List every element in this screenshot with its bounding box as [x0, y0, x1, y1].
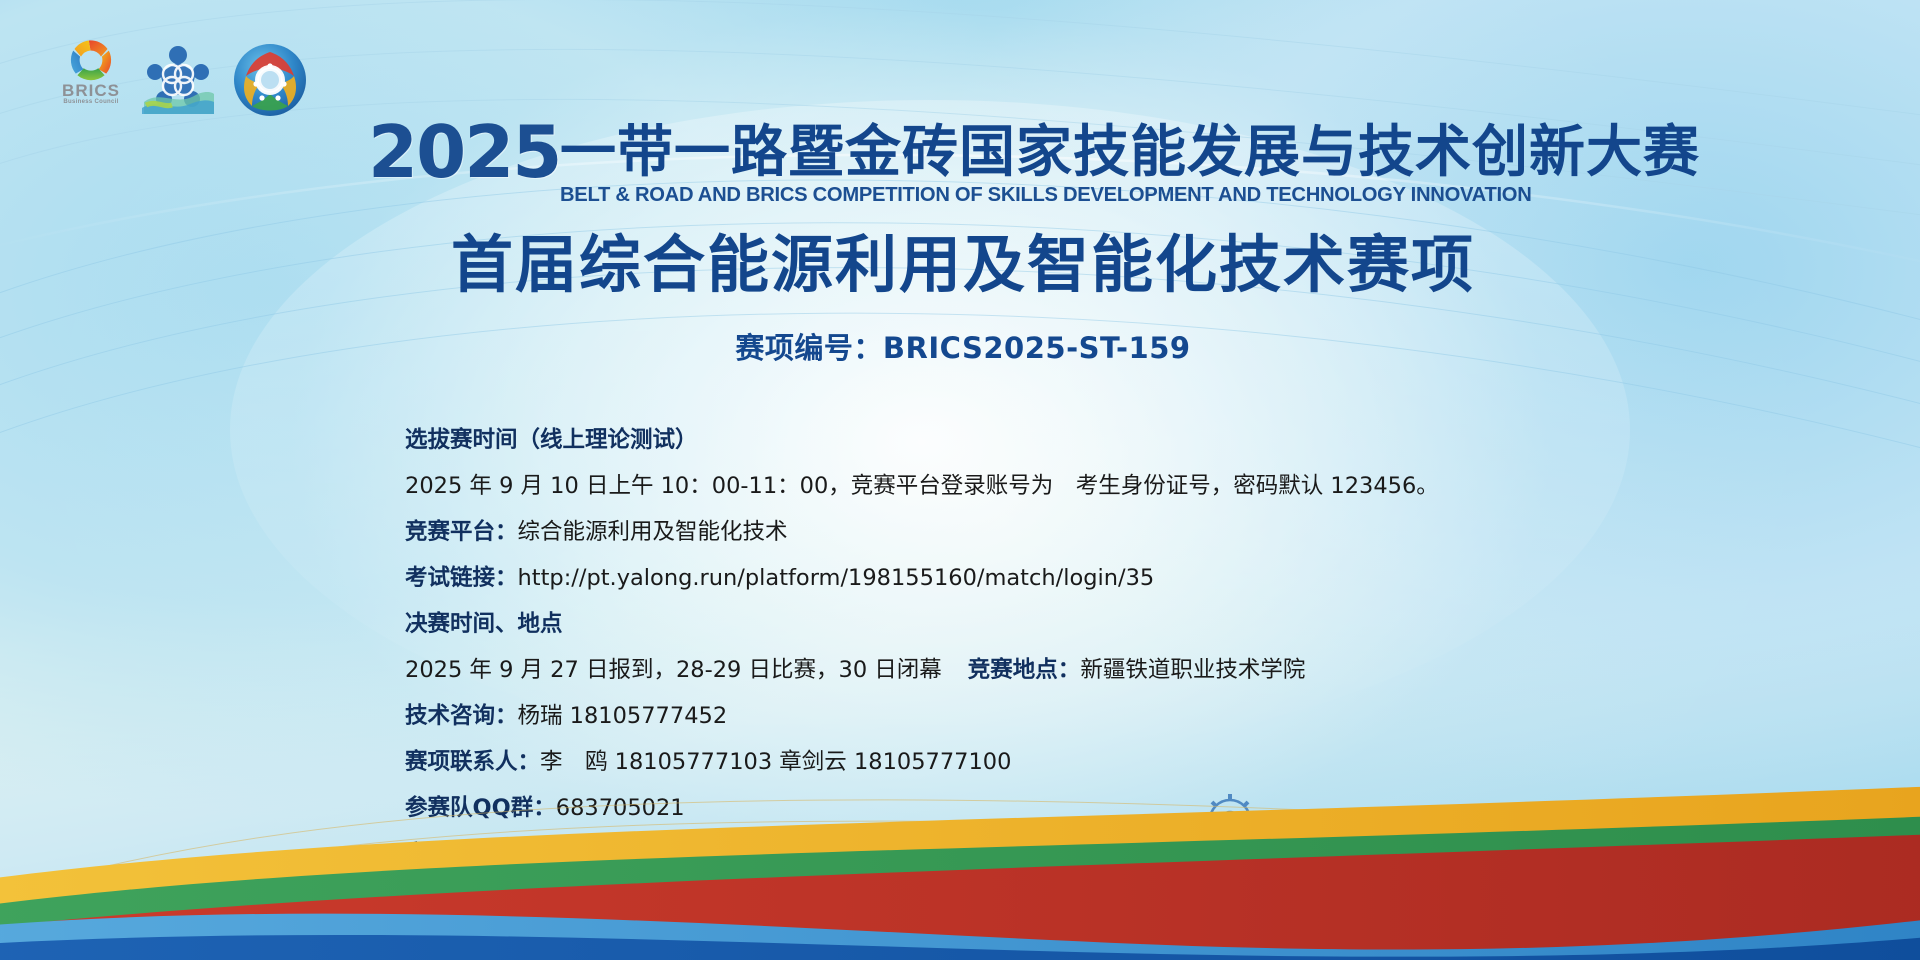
event-title-main: 首届综合能源利用及智能化技术赛项 — [368, 230, 1558, 300]
logo-group: BRICS Business Council — [52, 38, 322, 130]
brics-skills-emblem — [142, 42, 214, 114]
event-code-value: BRICS2025-ST-159 — [883, 331, 1191, 365]
event-code-label: 赛项编号： — [735, 331, 883, 365]
poster-canvas: BRICS Business Council — [0, 0, 1920, 960]
brics-sub-wordmark: Business Council — [60, 99, 122, 105]
selection-detail-line: 2025 年 9 月 10 日上午 10：00-11：00，竞赛平台登录账号为 … — [405, 464, 1555, 510]
venue-label: 竞赛地点： — [968, 657, 1081, 683]
venue-value: 新疆铁道职业技术学院 — [1080, 657, 1305, 683]
exam-link-line: 考试链接：http://pt.yalong.run/platform/19815… — [405, 556, 1555, 602]
brics-star-icon — [60, 38, 122, 82]
platform-value: 综合能源利用及智能化技术 — [518, 519, 788, 545]
platform-label: 竞赛平台： — [405, 519, 518, 545]
tech-support-value: 杨瑞 18105777452 — [518, 703, 728, 729]
selection-heading: 选拔赛时间（线上理论测试） — [405, 427, 698, 453]
year-2025: 2025 — [368, 116, 560, 188]
selection-detail: 2025 年 9 月 10 日上午 10：00-11：00，竞赛平台登录账号为 … — [405, 473, 1439, 499]
competition-title-cn: 一带一路暨金砖国家技能发展与技术创新大赛 — [560, 124, 1700, 182]
exam-link-value[interactable]: http://pt.yalong.run/platform/198155160/… — [518, 565, 1155, 591]
selection-heading-line: 选拔赛时间（线上理论测试） — [405, 418, 1555, 464]
final-heading-line: 决赛时间、地点 — [405, 602, 1555, 648]
final-heading: 决赛时间、地点 — [405, 611, 563, 637]
tech-support-label: 技术咨询： — [405, 703, 518, 729]
competition-emblem — [230, 40, 310, 120]
competition-title-en: BELT & ROAD AND BRICS COMPETITION OF SKI… — [560, 184, 1532, 206]
event-code-line: 赛项编号：BRICS2025-ST-159 — [368, 330, 1558, 366]
final-detail: 2025 年 9 月 27 日报到，28-29 日比赛，30 日闭幕 — [405, 657, 942, 683]
exam-link-label: 考试链接： — [405, 565, 518, 591]
platform-line: 竞赛平台：综合能源利用及智能化技术 — [405, 510, 1555, 556]
brics-wordmark: BRICS — [60, 83, 122, 99]
bottom-ribbons — [0, 730, 1920, 960]
final-detail-line: 2025 年 9 月 27 日报到，28-29 日比赛，30 日闭幕竞赛地点：新… — [405, 648, 1555, 694]
brics-business-council-logo: BRICS Business Council — [60, 38, 122, 106]
